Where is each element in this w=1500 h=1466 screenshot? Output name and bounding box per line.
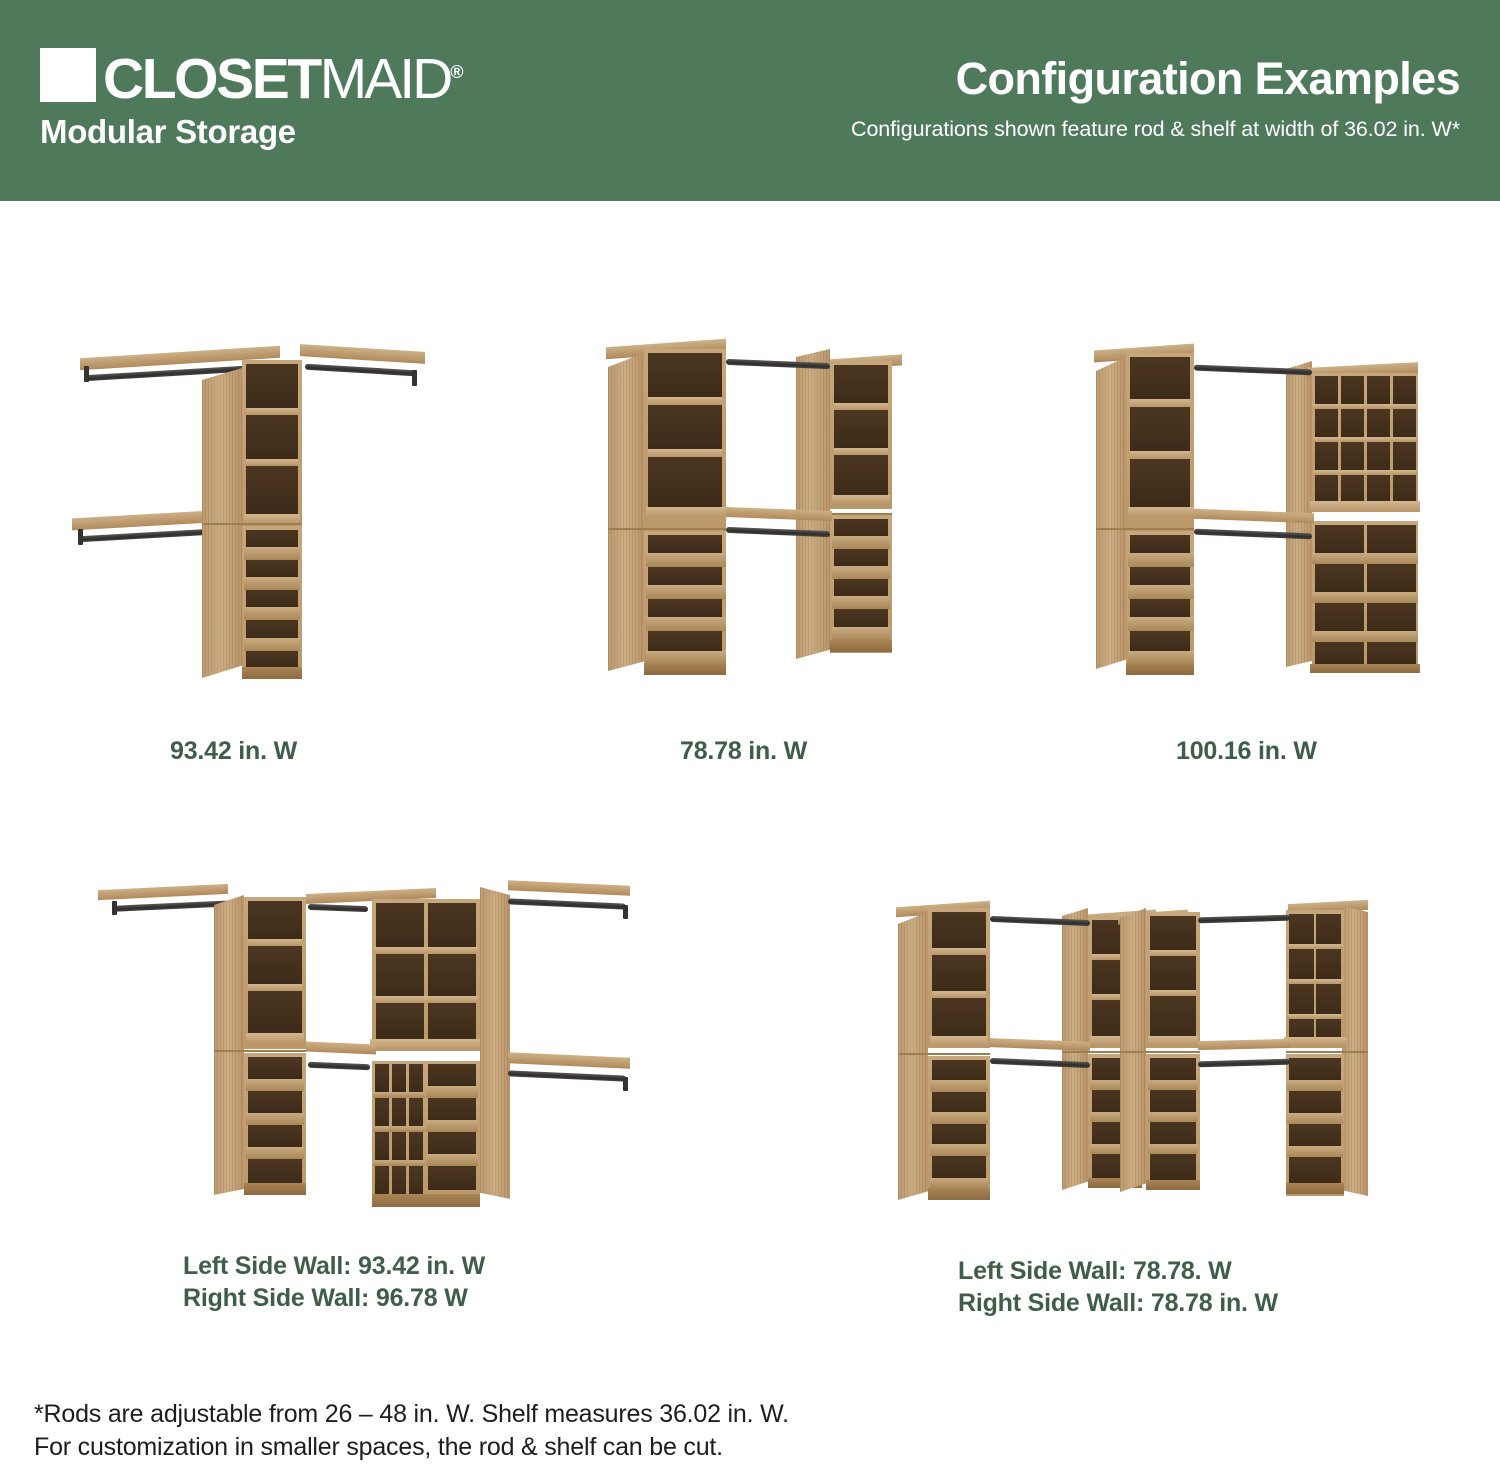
cubby-wall-base-kick	[1310, 664, 1420, 673]
tower-a-upper-cavity-2	[932, 955, 986, 991]
tower-c-upper-shelf-3	[1148, 1036, 1198, 1045]
small-cubby-cell	[392, 1166, 406, 1194]
left-tower-lower-shelf-2	[246, 1113, 304, 1125]
tower-d-cubby-cell	[1316, 949, 1341, 979]
tower-d-cubby-cell	[1316, 1019, 1341, 1037]
page-title: Configuration Examples	[620, 52, 1460, 106]
tower-lower-shelf-3	[244, 607, 300, 620]
right-tower-lower-shelf-1	[832, 536, 890, 549]
left-tower-module-seam	[214, 1050, 306, 1052]
configuration-caption-2: 78.78 in. W	[680, 735, 807, 767]
lower-cubby-cell	[1367, 525, 1416, 553]
left-tower-lower-shelf-4	[646, 651, 726, 663]
left-tower-upper-cavity-3	[1130, 459, 1190, 507]
header-text-block: Configuration Examples Configurations sh…	[620, 52, 1460, 142]
tower-a-lower-shelf-3	[930, 1144, 988, 1156]
left-tower-lower-shelf-4	[1128, 651, 1194, 663]
tower-lower-cavity-1	[246, 530, 298, 547]
right-tower-upper-cavity-3	[834, 455, 888, 495]
small-cubby-cell	[409, 1166, 423, 1194]
tower-a-module-seam	[898, 1053, 990, 1055]
tower-d-module-seam	[1286, 1051, 1368, 1053]
left-tower-base-kick	[244, 1183, 306, 1195]
left-tower-upper-cavity-3	[248, 991, 302, 1033]
page-header: CLOSETMAID® Modular Storage Configuratio…	[0, 0, 1500, 201]
tower-c-base-kick	[1146, 1180, 1200, 1190]
small-cubby-cell	[392, 1098, 406, 1126]
lower-cubby-cell	[1315, 642, 1364, 664]
cubby-cell	[1393, 442, 1416, 470]
cubby-cell	[1315, 409, 1338, 437]
upper-right-shelf	[300, 344, 425, 364]
left-tower-lower-shelf-2	[1128, 585, 1194, 599]
left-tower-upper-cavity-1	[248, 901, 302, 939]
center-cubby-cell	[376, 903, 424, 947]
small-cubby-cell	[392, 1064, 406, 1092]
left-tower-lower-cavity-4	[1130, 631, 1190, 651]
tower-d-mid-shelf	[1284, 1037, 1346, 1046]
mid-left-rod-endcap	[78, 529, 83, 545]
left-tower-side-panel	[1096, 357, 1126, 669]
footnote: *Rods are adjustable from 26 – 48 in. W.…	[34, 1398, 789, 1464]
cubby-cell	[1341, 409, 1364, 437]
tower-upper-shelf-1	[246, 408, 298, 415]
small-cubby-cell	[375, 1064, 389, 1092]
right-tower-side-panel	[796, 349, 830, 659]
left-tower-side-panel	[608, 353, 644, 671]
left-tower-lower-cavity-4	[648, 631, 722, 651]
left-tower-base-kick	[1126, 663, 1194, 675]
cubby-cell	[1367, 376, 1390, 404]
tower-d-lower-cavity-1	[1289, 1058, 1341, 1080]
cubby-cell	[1315, 475, 1338, 501]
configuration-card-3: 100.16 in. W	[1090, 335, 1430, 720]
tower-lower-shelf-1	[244, 547, 300, 560]
lower-cubby-cell	[1315, 603, 1364, 631]
closet-configuration-corner-four-towers	[880, 890, 1380, 1215]
tower-d-lower-shelf-3	[1287, 1146, 1343, 1157]
cd-mid-shelf	[1198, 1039, 1290, 1050]
right-tower-lower-cavity-2	[834, 549, 888, 566]
left-wall-rod-endcap	[112, 901, 117, 915]
corner-mid-shelf	[306, 1042, 376, 1055]
closet-configuration-single-tower-with-rods	[60, 330, 460, 720]
tower-upper-cavity-2	[246, 415, 298, 459]
left-tower-upper-cavity-1	[648, 353, 722, 397]
right-wall-lower-rod-endcap	[623, 1077, 628, 1091]
right-tower-side-panel	[480, 887, 510, 1199]
right-wall-upper-rod	[508, 898, 626, 909]
tower-d-lower-cavity-3	[1289, 1124, 1341, 1146]
configuration-caption-5: Left Side Wall: 78.78. W Right Side Wall…	[958, 1255, 1278, 1319]
tower-d-cubby-cell	[1289, 949, 1314, 979]
left-tower-module-seam	[1096, 528, 1194, 530]
tower-upper-cavity-1	[246, 364, 298, 408]
left-tower-upper-shelf-1	[648, 397, 722, 405]
page-subtitle: Configurations shown feature rod & shelf…	[620, 117, 1460, 142]
tower-c-lower-cavity-4	[1150, 1154, 1196, 1180]
upper-connecting-rod	[1194, 365, 1312, 376]
tower-d-cubby-cell	[1316, 984, 1341, 1014]
tower-c-module-seam	[1120, 1051, 1200, 1053]
configuration-caption-3: 100.16 in. W	[1176, 735, 1317, 767]
cd-lower-rod	[1198, 1059, 1290, 1068]
right-tower-lower-cavity-4	[834, 609, 888, 627]
cd-upper-rod	[1198, 915, 1290, 924]
left-tower-upper-cavity-1	[1130, 357, 1190, 399]
caption-line: Right Side Wall: 96.78 W	[183, 1282, 485, 1314]
center-drawer-cavity	[428, 1132, 476, 1154]
caption-line: Left Side Wall: 78.78. W	[958, 1255, 1278, 1287]
cubby-cell	[1341, 442, 1364, 470]
cubby-cell	[1341, 475, 1364, 501]
right-tower-upper-cavity-2	[834, 410, 888, 448]
tower-a-upper-shelf-2	[932, 991, 986, 998]
left-tower-upper-cavity-2	[648, 405, 722, 449]
tower-c-upper-cavity-3	[1150, 996, 1196, 1036]
tower-a-lower-cavity-2	[932, 1092, 986, 1112]
tower-c-lower-shelf-1	[1148, 1080, 1198, 1090]
brand-name-light: MAID	[320, 47, 451, 111]
tower-a-upper-cavity-1	[932, 912, 986, 948]
tower-d-cubby-cell	[1289, 984, 1314, 1014]
left-tower-lower-shelf-3	[1128, 617, 1194, 631]
center-cubby-shelf-1	[374, 947, 478, 954]
lower-cubby-cell	[1367, 642, 1416, 664]
caption-line: 78.78 in. W	[680, 735, 807, 767]
left-tower-base-kick	[644, 663, 726, 675]
brand-wordmark: CLOSETMAID®	[103, 45, 464, 106]
right-tower-upper-cavity-1	[834, 365, 888, 403]
right-tower-upper-shelf-3	[832, 495, 890, 504]
caption-line: Left Side Wall: 93.42 in. W	[183, 1250, 485, 1282]
configuration-card-1: 93.42 in. W	[60, 330, 460, 720]
left-tower-upper-shelf-3	[1128, 507, 1194, 517]
center-drawer-cavity	[428, 1098, 476, 1120]
right-tower-lower-shelf-3	[832, 596, 890, 609]
tower-d-lower-cavity-4	[1289, 1157, 1341, 1183]
tower-base-kick	[242, 667, 302, 679]
tower-a-upper-shelf-3	[930, 1036, 988, 1046]
small-cubby-cell	[375, 1098, 389, 1126]
tower-a-lower-shelf-2	[930, 1112, 988, 1124]
tower-c-lower-cavity-3	[1150, 1122, 1196, 1144]
small-cubby-cell	[409, 1064, 423, 1092]
left-tower-upper-shelf-2	[1130, 451, 1190, 459]
left-tower-upper-shelf-2	[648, 449, 722, 457]
left-tower-lower-cavity-1	[248, 1057, 302, 1079]
cubby-cell	[1367, 475, 1390, 501]
configuration-caption-1: 93.42 in. W	[170, 735, 297, 767]
closet-configuration-corner-left-right-walls	[80, 875, 640, 1215]
tower-d-lower-cavity-2	[1289, 1091, 1341, 1113]
configuration-card-2: 78.78 in. W	[600, 335, 930, 720]
tower-lower-shelf-4	[244, 638, 300, 651]
tower-d-lower-shelf-1	[1287, 1080, 1343, 1091]
cubby-cell	[1393, 409, 1416, 437]
center-cubby-cell	[428, 1003, 476, 1039]
small-cubby-cell	[375, 1166, 389, 1194]
tower-upper-cavity-3	[246, 466, 298, 514]
tower-c-upper-cavity-2	[1150, 956, 1196, 990]
left-tower-lower-cavity-2	[648, 567, 722, 585]
left-tower-lower-shelf-3	[646, 617, 726, 631]
left-tower-lower-cavity-2	[248, 1091, 302, 1113]
tower-lower-cavity-2	[246, 560, 298, 577]
tower-lower-cavity-4	[246, 620, 298, 638]
configuration-caption-4: Left Side Wall: 93.42 in. W Right Side W…	[183, 1250, 485, 1314]
right-tower-lower-cavity-3	[834, 579, 888, 596]
right-wall-lower-rod	[508, 1070, 626, 1081]
tower-d-cubby-cell	[1289, 1019, 1314, 1037]
right-tower-base-kick	[830, 640, 892, 652]
lower-cubby-cell	[1367, 603, 1416, 631]
left-tower-side-panel	[214, 895, 244, 1195]
left-tower-upper-shelf-1	[248, 939, 302, 946]
left-tower-lower-shelf-2	[646, 585, 726, 599]
tower-c-lower-shelf-2	[1148, 1112, 1198, 1122]
closet-configuration-two-towers-shoe-shelves	[600, 335, 930, 720]
corner-lower-rod	[308, 1062, 370, 1071]
right-wall-upper-rod-endcap	[623, 905, 628, 919]
lower-cubby-cell	[1315, 525, 1364, 553]
tower-a-base-kick	[928, 1188, 990, 1200]
left-tower-upper-cavity-2	[248, 946, 302, 984]
center-drawer-face-1	[426, 1086, 478, 1098]
lower-cubby-cell	[1367, 564, 1416, 592]
configuration-card-5: Left Side Wall: 78.78. W Right Side Wall…	[880, 890, 1380, 1215]
cubby-cell	[1367, 442, 1390, 470]
center-cubby-cell	[376, 954, 424, 996]
small-cubby-cell	[375, 1132, 389, 1160]
upper-right-hanging-rod-2	[305, 364, 415, 377]
configuration-card-4: Left Side Wall: 93.42 in. W Right Side W…	[80, 875, 640, 1215]
left-tower-lower-cavity-3	[1130, 599, 1190, 617]
tower-a-lower-shelf-4	[930, 1178, 988, 1188]
caption-line: 100.16 in. W	[1176, 735, 1317, 767]
left-tower-lower-cavity-1	[1130, 535, 1190, 553]
left-tower-upper-cavity-2	[1130, 407, 1190, 451]
center-drawer-cavity	[428, 1064, 476, 1086]
left-tower-upper-shelf-3	[646, 507, 726, 517]
right-wall-lower-shelf	[508, 1052, 630, 1069]
small-cubby-cell	[409, 1132, 423, 1160]
tower-c-upper-cavity-1	[1150, 916, 1196, 950]
tower-c-lower-cavity-1	[1150, 1058, 1196, 1080]
cubby-cell	[1315, 376, 1338, 404]
left-tower-lower-shelf-1	[1128, 553, 1194, 567]
brand-name-bold: CLOSET	[103, 47, 320, 111]
brand-subtitle: Modular Storage	[40, 113, 464, 151]
brand-logo: CLOSETMAID® Modular Storage	[40, 46, 464, 151]
tower-a-side-panel	[898, 912, 928, 1200]
tower-a-upper-shelf-1	[932, 948, 986, 955]
center-cubby-cell	[376, 1003, 424, 1039]
left-wall-top-shelf	[98, 884, 228, 900]
lower-cubby-shelf-2	[1312, 592, 1418, 603]
tower-upper-shelf-2	[246, 459, 298, 466]
tower-d-cubby-cell	[1289, 914, 1314, 944]
right-tower-upper-shelf-1	[834, 403, 888, 410]
cubby-cell	[1341, 376, 1364, 404]
lower-cubby-shelf-1	[1312, 553, 1418, 564]
tower-d-lower-shelf-2	[1287, 1113, 1343, 1124]
right-tower-lower-shelf-4	[832, 627, 890, 640]
small-cubby-cell	[409, 1098, 423, 1126]
caption-line: 93.42 in. W	[170, 735, 297, 767]
tower-lower-cavity-3	[246, 590, 298, 607]
left-tower-lower-cavity-1	[648, 535, 722, 553]
lower-cubby-cell	[1315, 564, 1364, 592]
tower-lower-cavity-5	[246, 651, 298, 667]
footnote-line-1: *Rods are adjustable from 26 – 48 in. W.…	[34, 1398, 789, 1431]
left-tower-lower-shelf-1	[646, 553, 726, 567]
tower-c-side-panel	[1120, 908, 1146, 1192]
tower-a-lower-shelf-1	[930, 1080, 988, 1092]
left-tower-module-seam	[608, 528, 726, 530]
upper-right-rod-endcap	[412, 370, 417, 386]
closet-configuration-tower-with-cubby-wall	[1090, 335, 1430, 720]
left-tower-upper-cavity-3	[648, 457, 722, 507]
closetmaid-square-icon	[40, 48, 96, 102]
center-base-kick	[372, 1194, 480, 1207]
left-tower-upper-shelf-2	[248, 984, 302, 991]
center-cubby-cell	[428, 903, 476, 947]
right-tower-upper-shelf-2	[834, 448, 888, 455]
small-cubby-cell	[392, 1132, 406, 1160]
center-cubby-shelf-2	[374, 996, 478, 1003]
left-tower-lower-cavity-3	[648, 599, 722, 617]
caption-line: Right Side Wall: 78.78 in. W	[958, 1287, 1278, 1319]
right-tower-lower-cavity-1	[834, 519, 888, 536]
left-tower-lower-cavity-3	[248, 1125, 302, 1147]
left-tower-lower-shelf-1	[246, 1079, 304, 1091]
tower-module-seam	[202, 523, 302, 525]
left-tower-upper-shelf-1	[1130, 399, 1190, 407]
tower-a-upper-cavity-3	[932, 998, 986, 1036]
cubby-cell	[1315, 442, 1338, 470]
tower-d-base-kick	[1286, 1183, 1344, 1194]
center-drawer-face-3	[426, 1154, 478, 1166]
tower-a-lower-cavity-4	[932, 1156, 986, 1178]
left-tower-lower-shelf-3	[246, 1147, 304, 1159]
cubby-cell	[1367, 409, 1390, 437]
left-tower-upper-shelf-3	[246, 1033, 304, 1043]
lower-cubby-shelf-3	[1312, 631, 1418, 642]
tower-a-lower-cavity-1	[932, 1060, 986, 1080]
left-tower-lower-cavity-2	[1130, 567, 1190, 585]
tower-d-cubby-cell	[1316, 914, 1341, 944]
right-wall-top-shelf	[508, 880, 630, 896]
center-cubby-cell	[428, 954, 476, 996]
center-drawer-cavity	[428, 1166, 476, 1190]
center-drawer-face-2	[426, 1120, 478, 1132]
cubby-cell	[1393, 475, 1416, 501]
tower-c-lower-shelf-3	[1148, 1144, 1198, 1154]
registered-mark-icon: ®	[450, 62, 463, 82]
cubby-cell	[1393, 376, 1416, 404]
tower-c-lower-cavity-2	[1150, 1090, 1196, 1112]
tower-lower-shelf-2	[244, 577, 300, 590]
tower-a-lower-cavity-3	[932, 1124, 986, 1144]
upper-left-rod-endcap	[84, 366, 89, 382]
left-tower-lower-cavity-4	[248, 1159, 302, 1183]
footnote-line-2: For customization in smaller spaces, the…	[34, 1431, 789, 1464]
center-cubby-mid-shelf	[370, 1039, 482, 1050]
right-tower-lower-shelf-2	[832, 566, 890, 579]
corner-upper-rod	[308, 904, 368, 912]
cubby-wall-mid-shelf	[1310, 501, 1420, 512]
